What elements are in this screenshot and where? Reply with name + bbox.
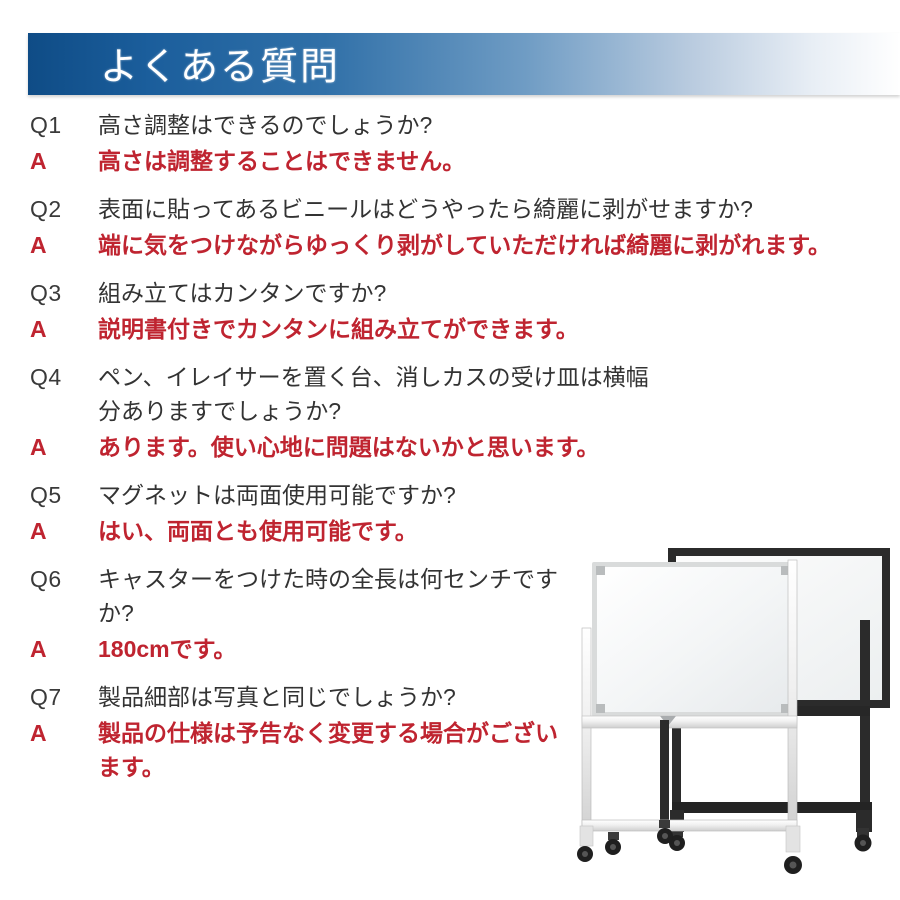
- faq-question-row: Q1 高さ調整はできるのでしょうか?: [30, 108, 890, 142]
- faq-question-text: 組み立てはカンタンですか?: [98, 276, 890, 310]
- faq-question-text: キャスターをつけた時の全長は何センチですか?: [98, 562, 568, 630]
- faq-answer-label: A: [30, 144, 98, 178]
- faq-answer-label: A: [30, 228, 98, 262]
- faq-answer-text: 説明書付きでカンタンに組み立てができます。: [98, 312, 890, 346]
- faq-question-label: Q6: [30, 562, 98, 596]
- faq-item-2: Q2 表面に貼ってあるビニールはどうやったら綺麗に剥がせますか? A 端に気をつ…: [30, 192, 890, 262]
- black-post-right: [860, 620, 870, 830]
- white-caster-right: [784, 856, 802, 874]
- faq-answer-text: はい、両面とも使用可能です。: [98, 514, 568, 548]
- faq-question-row: Q4 ペン、イレイサーを置く台、消しカスの受け皿は横幅分ありますでしょうか?: [30, 360, 890, 428]
- faq-answer-row: A 高さは調整することはできません。: [30, 144, 890, 178]
- white-caster-left: [577, 846, 593, 862]
- faq-answer-label: A: [30, 514, 98, 548]
- faq-question-text: 表面に貼ってあるビニールはどうやったら綺麗に剥がせますか?: [98, 192, 890, 226]
- faq-answer-text: 端に気をつけながらゆっくり剥がしていただければ綺麗に剥がれます。: [98, 228, 890, 262]
- faq-question-text: 高さ調整はできるのでしょうか?: [98, 108, 890, 142]
- faq-question-row: Q3 組み立てはカンタンですか?: [30, 276, 890, 310]
- faq-answer-text: あります。使い心地に問題はないかと思います。: [98, 430, 658, 464]
- front-inner-black-post: [660, 720, 669, 828]
- black-base-rail: [672, 802, 872, 813]
- faq-question-label: Q5: [30, 478, 98, 512]
- white-foot-right: [786, 826, 800, 852]
- faq-item-3: Q3 組み立てはカンタンですか? A 説明書付きでカンタンに組み立てができます。: [30, 276, 890, 346]
- faq-question-text: マグネットは両面使用可能ですか?: [98, 478, 568, 512]
- faq-answer-label: A: [30, 716, 98, 750]
- white-foot-left: [580, 826, 593, 846]
- faq-answer-row: A 端に気をつけながらゆっくり剥がしていただければ綺麗に剥がれます。: [30, 228, 890, 262]
- white-post-right: [788, 560, 797, 840]
- faq-answer-row: A あります。使い心地に問題はないかと思います。: [30, 430, 890, 464]
- faq-answer-text: 製品の仕様は予告なく変更する場合がございます。: [98, 716, 568, 784]
- faq-question-label: Q3: [30, 276, 98, 310]
- faq-answer-label: A: [30, 632, 98, 666]
- white-board-surface: [597, 567, 789, 712]
- faq-answer-text: 高さは調整することはできません。: [98, 144, 890, 178]
- pen-tray: [582, 716, 797, 728]
- faq-answer-label: A: [30, 312, 98, 346]
- white-board-corner-tl: [596, 566, 605, 575]
- faq-question-text: ペン、イレイサーを置く台、消しカスの受け皿は横幅分ありますでしょうか?: [98, 360, 658, 428]
- faq-question-row: Q5 マグネットは両面使用可能ですか?: [30, 478, 890, 512]
- faq-question-label: Q1: [30, 108, 98, 142]
- white-post-left: [582, 628, 591, 840]
- white-base-rail: [582, 820, 797, 831]
- faq-item-4: Q4 ペン、イレイサーを置く台、消しカスの受け皿は横幅分ありますでしょうか? A…: [30, 360, 890, 464]
- white-caster-mid: [605, 832, 621, 855]
- page-header-banner: よくある質問: [28, 33, 900, 95]
- faq-question-label: Q4: [30, 360, 98, 394]
- white-frame-whiteboard: [577, 560, 802, 874]
- black-caster-right: [855, 828, 872, 852]
- product-photo-whiteboards: [560, 520, 900, 900]
- faq-question-text: 製品細部は写真と同じでしょうか?: [98, 680, 568, 714]
- faq-question-label: Q2: [30, 192, 98, 226]
- page-title: よくある質問: [100, 35, 340, 90]
- whiteboard-illustration: [560, 520, 900, 900]
- faq-answer-row: A 説明書付きでカンタンに組み立てができます。: [30, 312, 890, 346]
- faq-item-1: Q1 高さ調整はできるのでしょうか? A 高さは調整することはできません。: [30, 108, 890, 178]
- faq-answer-text: 180cmです。: [98, 632, 568, 666]
- white-board-corner-bl: [596, 704, 605, 713]
- faq-question-row: Q2 表面に貼ってあるビニールはどうやったら綺麗に剥がせますか?: [30, 192, 890, 226]
- faq-question-label: Q7: [30, 680, 98, 714]
- faq-answer-label: A: [30, 430, 98, 464]
